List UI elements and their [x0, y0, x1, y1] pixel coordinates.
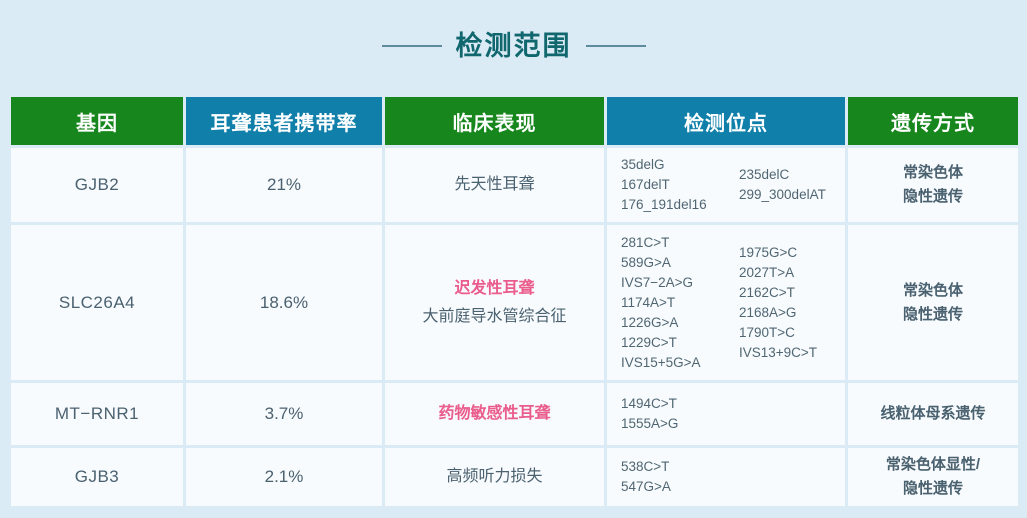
loci-list: 35delG 167delT 176_191del16 235delC 299_… [621, 155, 845, 215]
cell-gene: GJB2 [11, 148, 183, 222]
inheritance-line: 常染色体显性/ [848, 453, 1018, 477]
table-header-row: 基因 耳聋患者携带率 临床表现 检测位点 遗传方式 [11, 97, 1018, 145]
cell-loci: 1494C>T 1555A>G [607, 383, 845, 445]
loci-column-left: 281C>T 589G>A IVS7−2A>G 1174A>T 1226G>A … [621, 233, 721, 373]
locus-item: 1790T>C [739, 323, 817, 343]
inheritance-mode: 线粒体母系遗传 [848, 402, 1018, 426]
table-row: GJB2 21% 先天性耳聋 35delG 167delT 176_19 [11, 148, 1018, 222]
cell-clinical: 迟发性耳聋 大前庭导水管综合征 [385, 225, 604, 380]
inheritance-mode: 常染色体 隐性遗传 [848, 161, 1018, 209]
clinical-plain-text: 大前庭导水管综合征 [385, 303, 604, 331]
cell-carrier-rate: 18.6% [186, 225, 382, 380]
locus-item: 547G>A [621, 477, 721, 497]
title-text: 检测范围 [456, 33, 572, 60]
clinical-accent-text: 迟发性耳聋 [385, 275, 604, 303]
cell-gene: SLC26A4 [11, 225, 183, 380]
locus-item: IVS15+5G>A [621, 353, 721, 373]
column-header-carrier-rate: 耳聋患者携带率 [186, 97, 382, 145]
cell-inheritance: 常染色体 隐性遗传 [848, 148, 1018, 222]
table-row: GJB3 2.1% 高频听力损失 538C>T 547G>A [11, 448, 1018, 506]
locus-item: 1555A>G [621, 414, 721, 434]
table-row: SLC26A4 18.6% 迟发性耳聋 大前庭导水管综合征 281C>T 5 [11, 225, 1018, 380]
cell-clinical: 药物敏感性耳聋 [385, 383, 604, 445]
locus-item: 1174A>T [621, 293, 721, 313]
locus-item: 2168A>G [739, 303, 817, 323]
loci-column-left: 35delG 167delT 176_191del16 [621, 155, 721, 215]
cell-carrier-rate: 21% [186, 148, 382, 222]
gene-name: SLC26A4 [59, 293, 135, 312]
gene-name: GJB2 [75, 175, 120, 194]
locus-item: IVS7−2A>G [621, 273, 721, 293]
inheritance-line: 线粒体母系遗传 [848, 402, 1018, 426]
cell-gene: MT−RNR1 [11, 383, 183, 445]
locus-item: 167delT [621, 175, 721, 195]
table-row: MT−RNR1 3.7% 药物敏感性耳聋 1494C>T 1555A>G [11, 383, 1018, 445]
clinical-manifestation: 高频听力损失 [385, 463, 604, 491]
cell-carrier-rate: 2.1% [186, 448, 382, 506]
locus-item: 1226G>A [621, 313, 721, 333]
clinical-accent-text: 药物敏感性耳聋 [385, 400, 604, 428]
locus-item: 2027T>A [739, 263, 817, 283]
cell-inheritance: 线粒体母系遗传 [848, 383, 1018, 445]
cell-carrier-rate: 3.7% [186, 383, 382, 445]
locus-item: 35delG [621, 155, 721, 175]
page-title: 检测范围 [0, 0, 1027, 92]
clinical-plain-text: 高频听力损失 [385, 463, 604, 491]
cell-clinical: 高频听力损失 [385, 448, 604, 506]
inheritance-line: 隐性遗传 [848, 303, 1018, 327]
inheritance-line: 隐性遗传 [848, 185, 1018, 209]
loci-column-left: 538C>T 547G>A [621, 457, 721, 497]
inheritance-line: 常染色体 [848, 279, 1018, 303]
loci-list: 538C>T 547G>A [621, 457, 845, 497]
column-header-loci: 检测位点 [607, 97, 845, 145]
locus-item: 2162C>T [739, 283, 817, 303]
column-header-gene: 基因 [11, 97, 183, 145]
column-header-inheritance: 遗传方式 [848, 97, 1018, 145]
cell-clinical: 先天性耳聋 [385, 148, 604, 222]
loci-list: 1494C>T 1555A>G [621, 394, 845, 434]
detection-scope-table: 基因 耳聋患者携带率 临床表现 检测位点 遗传方式 GJB2 21% 先天性耳聋 [8, 94, 1021, 509]
table-header: 基因 耳聋患者携带率 临床表现 检测位点 遗传方式 [11, 97, 1018, 145]
locus-item: IVS13+9C>T [739, 343, 817, 363]
inheritance-line: 常染色体 [848, 161, 1018, 185]
locus-item: 235delC [739, 165, 826, 185]
inheritance-mode: 常染色体显性/ 隐性遗传 [848, 453, 1018, 501]
locus-item: 589G>A [621, 253, 721, 273]
locus-item: 1975G>C [739, 243, 817, 263]
gene-name: GJB3 [75, 467, 120, 486]
cell-loci: 35delG 167delT 176_191del16 235delC 299_… [607, 148, 845, 222]
title-rule-left [382, 45, 442, 47]
locus-item: 1494C>T [621, 394, 721, 414]
clinical-manifestation: 药物敏感性耳聋 [385, 400, 604, 428]
carrier-rate: 21% [267, 175, 301, 194]
locus-item: 299_300delAT [739, 185, 826, 205]
loci-column-left: 1494C>T 1555A>G [621, 394, 721, 434]
carrier-rate: 3.7% [265, 404, 304, 423]
carrier-rate: 18.6% [260, 293, 308, 312]
locus-item: 281C>T [621, 233, 721, 253]
clinical-manifestation: 迟发性耳聋 大前庭导水管综合征 [385, 275, 604, 331]
cell-loci: 538C>T 547G>A [607, 448, 845, 506]
locus-item: 176_191del16 [621, 195, 721, 215]
table-body: GJB2 21% 先天性耳聋 35delG 167delT 176_19 [11, 148, 1018, 506]
carrier-rate: 2.1% [265, 467, 304, 486]
cell-inheritance: 常染色体显性/ 隐性遗传 [848, 448, 1018, 506]
inheritance-mode: 常染色体 隐性遗传 [848, 279, 1018, 327]
locus-item: 538C>T [621, 457, 721, 477]
cell-gene: GJB3 [11, 448, 183, 506]
clinical-plain-text: 先天性耳聋 [385, 171, 604, 199]
locus-item: 1229C>T [621, 333, 721, 353]
page-root: 检测范围 基因 耳聋患者携带率 临床表现 检测位点 遗传方式 GJB2 21% [0, 0, 1027, 518]
loci-list: 281C>T 589G>A IVS7−2A>G 1174A>T 1226G>A … [621, 233, 845, 373]
gene-name: MT−RNR1 [55, 404, 139, 423]
cell-inheritance: 常染色体 隐性遗传 [848, 225, 1018, 380]
cell-loci: 281C>T 589G>A IVS7−2A>G 1174A>T 1226G>A … [607, 225, 845, 380]
column-header-clinical: 临床表现 [385, 97, 604, 145]
title-rule-right [586, 45, 646, 47]
clinical-manifestation: 先天性耳聋 [385, 171, 604, 199]
loci-column-right: 1975G>C 2027T>A 2162C>T 2168A>G 1790T>C … [739, 243, 817, 363]
inheritance-line: 隐性遗传 [848, 477, 1018, 501]
loci-column-right: 235delC 299_300delAT [739, 165, 826, 205]
